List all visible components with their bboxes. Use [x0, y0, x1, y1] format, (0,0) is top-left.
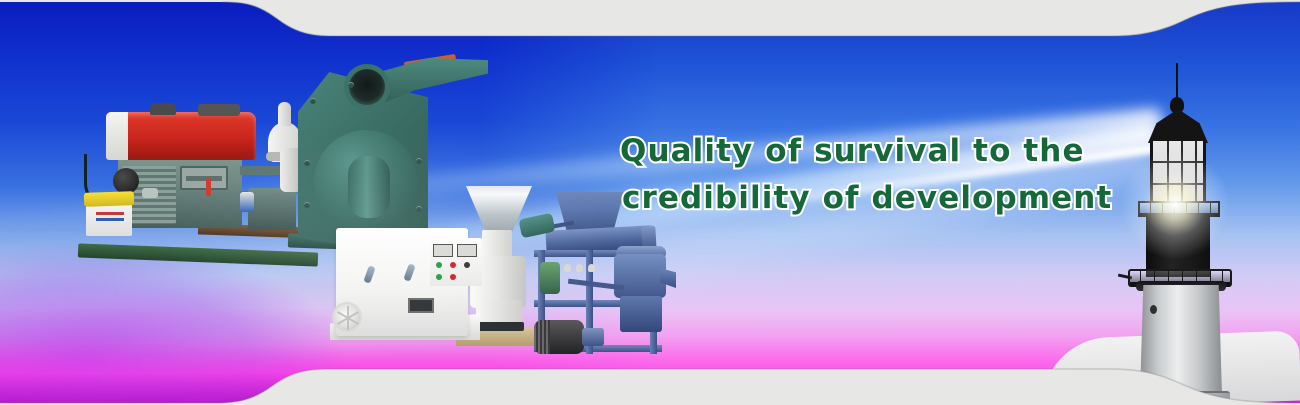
- mill-bolt: [348, 82, 354, 88]
- panel-gauge: [433, 244, 453, 257]
- panel-start-button[interactable]: [436, 262, 442, 268]
- panel-reset-button[interactable]: [464, 262, 470, 268]
- panel-stop-button[interactable]: [450, 262, 456, 268]
- panel-start-button[interactable]: [436, 274, 442, 280]
- mill-bolt: [304, 160, 310, 166]
- lighthouse-vent: [1150, 305, 1157, 314]
- panel-stop-button[interactable]: [450, 274, 456, 280]
- extruder-gauge: [576, 264, 583, 272]
- engine-lever: [206, 178, 211, 196]
- diesel-engine-image: [78, 108, 318, 283]
- extruder-coupling: [582, 328, 604, 346]
- mill-bolt: [304, 202, 310, 208]
- engine-tank-white-end: [106, 112, 128, 160]
- engine-base-rail: [78, 243, 318, 266]
- mill-bolt: [416, 158, 422, 164]
- lighthouse-tower-upper: [1140, 285, 1222, 395]
- promo-banner: Quality of survival to the credibility o…: [0, 0, 1300, 405]
- lighthouse-lamp-flare: [1120, 150, 1230, 260]
- machinery-group: [0, 0, 720, 405]
- extruder-gauge: [588, 264, 595, 272]
- lighthouse-roof: [1148, 109, 1208, 143]
- engine-fuel-cap: [150, 103, 176, 115]
- extruder-gauge-cluster: [564, 264, 598, 280]
- extruder-gearbox: [614, 254, 666, 298]
- engine-knob: [142, 188, 158, 198]
- engine-red-tank: [106, 112, 256, 160]
- panel-gauge: [457, 244, 477, 257]
- headline-slogan: Quality of survival to the credibility o…: [620, 128, 1090, 222]
- extruder-gauge: [564, 264, 571, 272]
- pellet-mill-vent-grille: [408, 298, 434, 313]
- engine-oil-filter: [240, 192, 254, 212]
- extruder-green-pump: [540, 262, 560, 294]
- headline-line-1: Quality of survival to the: [620, 128, 1090, 175]
- mill-bolt: [310, 98, 316, 104]
- engine-top-box: [198, 104, 240, 116]
- extruder-die-housing: [620, 296, 662, 332]
- engine-name-plate: [180, 166, 228, 190]
- engine-battery-top: [84, 191, 134, 207]
- lighthouse-spire: [1176, 63, 1178, 101]
- pellet-mill-control-panel: [430, 238, 482, 286]
- battery-label-stripe: [96, 212, 124, 215]
- motor-fins: [534, 320, 550, 354]
- pellet-mill-fan-cover: [332, 302, 362, 332]
- battery-label-stripe: [96, 218, 124, 221]
- extruder-main-motor: [534, 320, 584, 354]
- headline-line-2: credibility of development: [620, 175, 1090, 222]
- pellet-mill-image: [330, 186, 540, 371]
